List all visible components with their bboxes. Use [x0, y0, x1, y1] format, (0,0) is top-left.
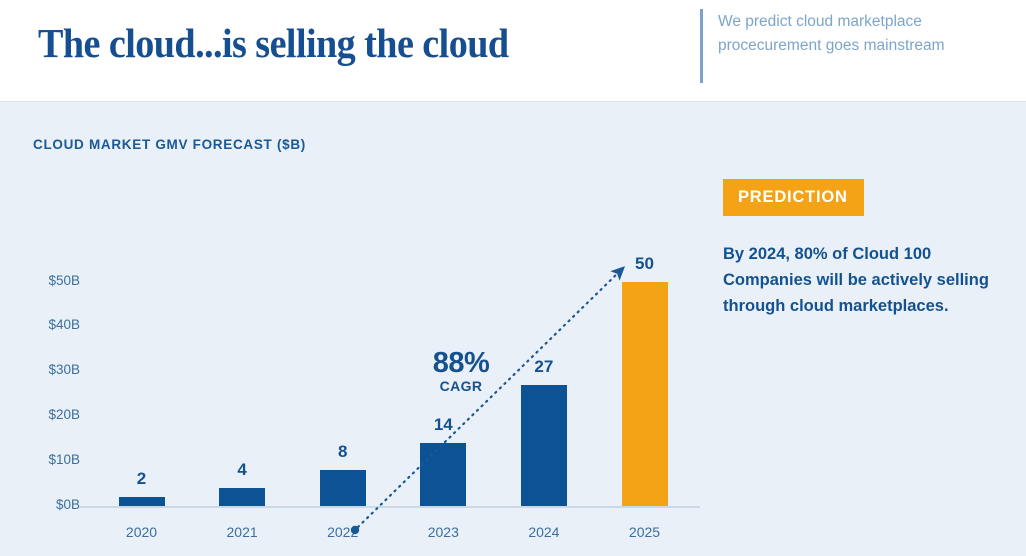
y-axis-tick: $50B [48, 273, 80, 288]
x-axis-category-label: 2024 [528, 524, 559, 540]
x-axis-category-label: 2022 [327, 524, 358, 540]
x-axis-category-label: 2020 [126, 524, 157, 540]
bar-column: 82022 [320, 470, 366, 506]
bar-rect [420, 443, 466, 506]
bar-value-label: 4 [237, 460, 246, 480]
slide-root: The cloud...is selling the cloud We pred… [0, 0, 1026, 556]
y-axis-tick: $0B [56, 497, 80, 512]
bar-value-label: 8 [338, 442, 347, 462]
bar-value-label: 27 [534, 357, 553, 377]
content-panel: CLOUD MARKET GMV FORECAST ($B) $0B$10B$2… [0, 101, 1026, 556]
prediction-badge: PREDICTION [723, 179, 864, 216]
x-axis-line [80, 506, 700, 508]
bar-rect [219, 488, 265, 506]
y-axis-tick: $30B [48, 362, 80, 377]
bar-column: 502025 [622, 282, 668, 507]
bar-column: 22020 [119, 497, 165, 506]
y-axis-tick: $40B [48, 317, 80, 332]
x-axis-category-label: 2025 [629, 524, 660, 540]
bar-column: 142023 [420, 443, 466, 506]
bar-rect [622, 282, 668, 507]
page-title: The cloud...is selling the cloud [38, 20, 633, 66]
bar-value-label: 2 [137, 469, 146, 489]
bar-chart: $0B$10B$20B$30B$40B$50B 2202042021820221… [0, 101, 710, 556]
cagr-annotation: 88% CAGR [416, 348, 506, 394]
cagr-percent: 88% [416, 348, 506, 378]
bar-rect [320, 470, 366, 506]
cagr-label: CAGR [416, 378, 506, 394]
y-axis-labels: $0B$10B$20B$30B$40B$50B [28, 101, 80, 556]
bar-rect [521, 385, 567, 506]
header-divider [700, 9, 703, 83]
y-axis-tick: $10B [48, 452, 80, 467]
bar-column: 42021 [219, 488, 265, 506]
prediction-text: By 2024, 80% of Cloud 100 Companies will… [723, 241, 1003, 319]
header-note: We predict cloud marketplace procecureme… [718, 10, 998, 58]
prediction-panel: PREDICTION By 2024, 80% of Cloud 100 Com… [723, 179, 1008, 319]
x-axis-category-label: 2021 [227, 524, 258, 540]
bar-value-label: 50 [635, 254, 654, 274]
header: The cloud...is selling the cloud We pred… [0, 0, 1026, 101]
x-axis-category-label: 2023 [428, 524, 459, 540]
bar-value-label: 14 [434, 415, 453, 435]
bar-rect [119, 497, 165, 506]
bar-column: 272024 [521, 385, 567, 506]
y-axis-tick: $20B [48, 407, 80, 422]
